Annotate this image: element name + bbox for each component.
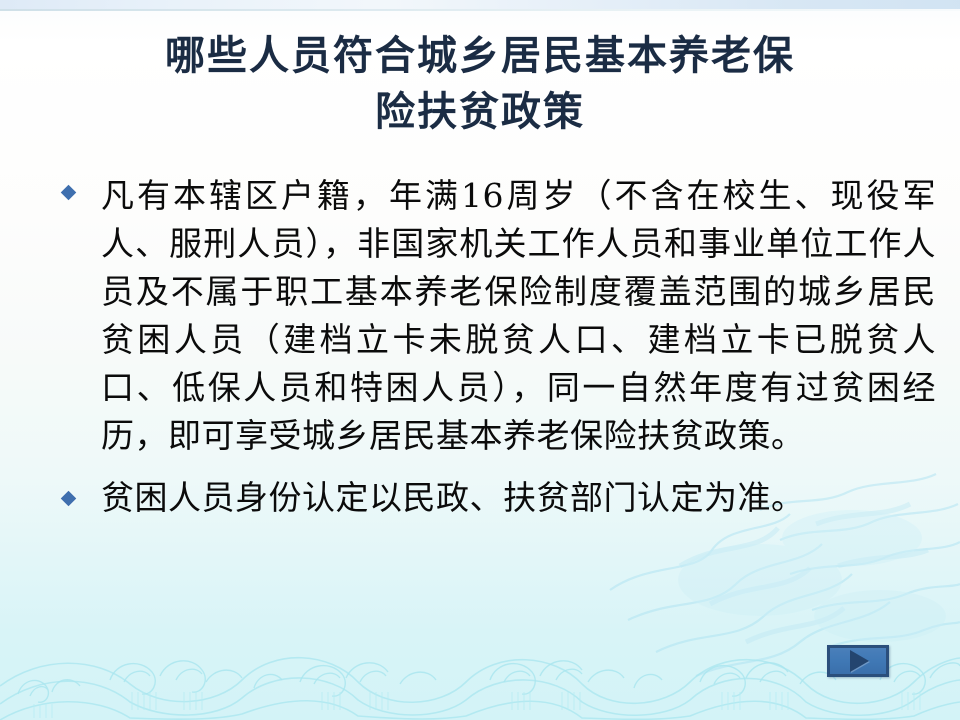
diamond-bullet-icon bbox=[61, 491, 77, 507]
bullet-item-2-text: 贫困人员身份认定以民政、扶贫部门认定为准。 bbox=[101, 474, 936, 522]
bullet-item-1-text: 凡有本辖区户籍，年满16周岁（不含在校生、现役军人、服刑人员），非国家机关工作人… bbox=[101, 172, 936, 460]
bullet-item-2: 贫困人员身份认定以民政、扶贫部门认定为准。 bbox=[56, 474, 936, 522]
content-body: 凡有本辖区户籍，年满16周岁（不含在校生、现役军人、服刑人员），非国家机关工作人… bbox=[56, 172, 936, 528]
bullet-item-1: 凡有本辖区户籍，年满16周岁（不含在校生、现役军人、服刑人员），非国家机关工作人… bbox=[56, 172, 936, 460]
next-slide-button[interactable] bbox=[827, 645, 889, 677]
diamond-bullet-icon bbox=[61, 185, 77, 201]
top-decorative-band bbox=[0, 0, 960, 9]
top-band-divider bbox=[0, 9, 960, 11]
wave-pattern-decoration bbox=[0, 600, 960, 720]
page-title-line-1: 哪些人员符合城乡居民基本养老保 bbox=[0, 28, 960, 84]
play-triangle-icon bbox=[850, 650, 869, 672]
page-title: 哪些人员符合城乡居民基本养老保 险扶贫政策 bbox=[0, 28, 960, 140]
page-title-line-2: 险扶贫政策 bbox=[0, 84, 960, 140]
slide-canvas: 哪些人员符合城乡居民基本养老保 险扶贫政策 凡有本辖区户籍，年满16周岁（不含在… bbox=[0, 0, 960, 720]
